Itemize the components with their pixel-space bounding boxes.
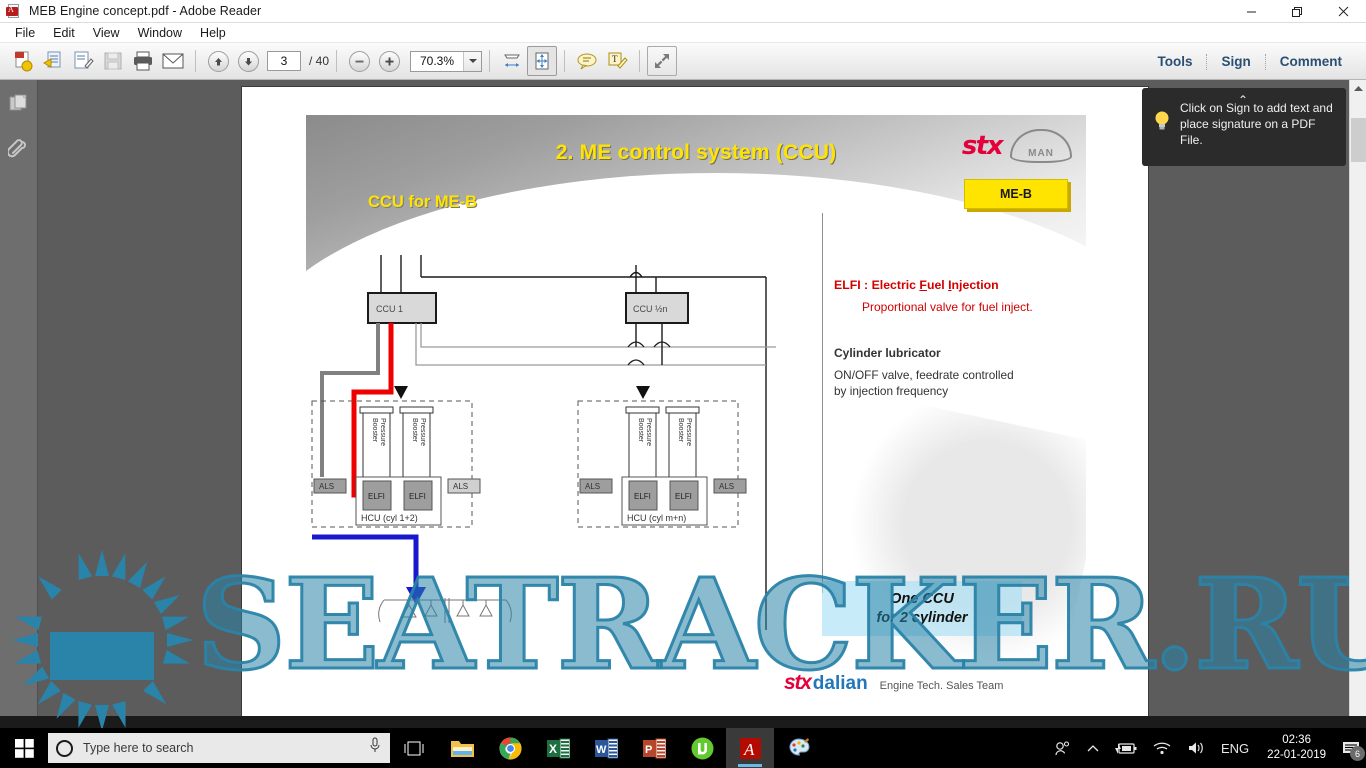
footer-team-label: Engine Tech. Sales Team bbox=[880, 680, 1004, 692]
lubricator-body-line1: ON/OFF valve, feedrate controlled bbox=[834, 367, 1014, 383]
zoom-level-value: 70.3% bbox=[411, 54, 463, 68]
tooltip-text: Click on Sign to add text and place sign… bbox=[1180, 100, 1336, 148]
clock-time: 02:36 bbox=[1267, 733, 1326, 748]
toolbar-separator bbox=[195, 50, 196, 72]
svg-text:Booster: Booster bbox=[677, 418, 684, 443]
system-tray: ENG 02:36 22-01-2019 6 bbox=[1046, 728, 1366, 768]
page-number-input[interactable]: 3 bbox=[267, 51, 301, 71]
lubricator-heading: Cylinder lubricator bbox=[834, 346, 941, 360]
svg-text:ALS: ALS bbox=[585, 482, 600, 491]
clock-date: 22-01-2019 bbox=[1267, 748, 1326, 763]
tools-button[interactable]: Tools bbox=[1143, 54, 1206, 69]
window-titlebar: MEB Engine concept.pdf - Adobe Reader bbox=[0, 0, 1366, 23]
task-view-icon[interactable] bbox=[390, 728, 438, 768]
viewport-gutter bbox=[38, 80, 242, 716]
powerpoint-icon[interactable]: P bbox=[630, 728, 678, 768]
paint-icon[interactable] bbox=[774, 728, 822, 768]
svg-text:CCU 1: CCU 1 bbox=[376, 304, 403, 314]
notification-icon[interactable]: 6 bbox=[1336, 728, 1366, 768]
svg-text:ELFI: ELFI bbox=[409, 492, 426, 501]
people-icon[interactable] bbox=[1046, 741, 1079, 756]
svg-text:CCU ½n: CCU ½n bbox=[633, 304, 668, 314]
volume-icon[interactable] bbox=[1179, 741, 1213, 755]
cortana-circle-icon bbox=[56, 740, 73, 757]
microphone-icon[interactable] bbox=[368, 737, 382, 759]
callout-line-1: One CCU bbox=[890, 590, 954, 609]
elfi-heading-mid: uel bbox=[927, 278, 948, 292]
callout-line-2: for 2 cylinder bbox=[876, 609, 967, 628]
taskbar-active-indicator bbox=[738, 764, 762, 767]
svg-text:T: T bbox=[612, 54, 618, 64]
sign-stamp-icon[interactable]: T bbox=[602, 46, 632, 76]
zoom-in-button[interactable] bbox=[374, 46, 404, 76]
vertical-scrollbar[interactable] bbox=[1349, 80, 1366, 716]
elfi-heading-f: F bbox=[919, 278, 927, 292]
svg-text:A: A bbox=[743, 740, 755, 759]
toolbar-right-links: Tools Sign Comment bbox=[1143, 43, 1356, 80]
google-chrome-icon[interactable] bbox=[486, 728, 534, 768]
svg-text:Pressure: Pressure bbox=[645, 418, 652, 446]
slide-content: 2. ME control system (CCU) CCU for ME-B … bbox=[306, 115, 1086, 695]
utorrent-icon[interactable] bbox=[678, 728, 726, 768]
maximize-button[interactable] bbox=[1274, 0, 1320, 23]
save-icon bbox=[98, 46, 128, 76]
edit-pdf-icon[interactable] bbox=[68, 46, 98, 76]
close-button[interactable] bbox=[1320, 0, 1366, 23]
sign-tooltip[interactable]: ⌃ Click on Sign to add text and place si… bbox=[1142, 88, 1346, 166]
svg-text:ALS: ALS bbox=[453, 482, 468, 491]
chevron-down-icon[interactable] bbox=[463, 52, 481, 71]
clock[interactable]: 02:36 22-01-2019 bbox=[1257, 733, 1336, 763]
file-explorer-icon[interactable] bbox=[438, 728, 486, 768]
svg-text:Booster: Booster bbox=[371, 418, 378, 443]
minimize-button[interactable] bbox=[1228, 0, 1274, 23]
next-page-button[interactable] bbox=[233, 46, 263, 76]
lubricator-body: ON/OFF valve, feedrate controlled by inj… bbox=[834, 367, 1014, 399]
page-total-label: / 40 bbox=[309, 54, 329, 68]
slide-background-art bbox=[802, 391, 1086, 695]
word-icon[interactable]: W bbox=[582, 728, 630, 768]
menu-edit[interactable]: Edit bbox=[44, 25, 84, 41]
window-title: MEB Engine concept.pdf - Adobe Reader bbox=[29, 4, 261, 18]
footer-dalian-logo: dalian bbox=[813, 673, 868, 695]
show-hidden-icons-chevron-icon[interactable] bbox=[1079, 744, 1107, 753]
wifi-icon[interactable] bbox=[1145, 741, 1179, 755]
svg-text:Pressure: Pressure bbox=[685, 418, 692, 446]
print-icon[interactable] bbox=[128, 46, 158, 76]
page-thumbnails-icon[interactable] bbox=[7, 92, 31, 116]
svg-text:HCU (cyl m+n): HCU (cyl m+n) bbox=[627, 513, 686, 523]
svg-text:ELFI: ELFI bbox=[368, 492, 385, 501]
adobe-reader-icon bbox=[6, 3, 22, 19]
document-viewport[interactable]: 2. ME control system (CCU) CCU for ME-B … bbox=[38, 80, 1366, 716]
main-toolbar: 3 / 40 70.3% bbox=[0, 43, 1366, 80]
elfi-heading: ELFI : Electric Fuel Injection bbox=[834, 278, 999, 292]
create-pdf-icon[interactable] bbox=[8, 46, 38, 76]
menu-view[interactable]: View bbox=[84, 25, 129, 41]
email-icon[interactable] bbox=[158, 46, 188, 76]
scroll-up-button[interactable] bbox=[1350, 80, 1366, 97]
man-logo-text: MAN bbox=[1028, 148, 1054, 159]
fit-width-icon[interactable] bbox=[497, 46, 527, 76]
lubricator-body-line2: by injection frequency bbox=[834, 383, 1014, 399]
sign-button[interactable]: Sign bbox=[1207, 54, 1264, 69]
svg-text:X: X bbox=[549, 742, 557, 756]
export-pdf-icon[interactable] bbox=[38, 46, 68, 76]
windows-start-icon[interactable] bbox=[0, 728, 48, 768]
menu-window[interactable]: Window bbox=[129, 25, 191, 41]
svg-text:ALS: ALS bbox=[319, 482, 334, 491]
svg-text:Booster: Booster bbox=[637, 418, 644, 443]
attachments-paperclip-icon[interactable] bbox=[7, 136, 31, 160]
fullscreen-icon[interactable] bbox=[647, 46, 677, 76]
toolbar-separator-5 bbox=[639, 50, 640, 72]
stx-logo: stx bbox=[962, 131, 1002, 161]
zoom-level-combobox[interactable]: 70.3% bbox=[410, 51, 482, 72]
elfi-heading-pre: ELFI : Electric bbox=[834, 278, 919, 292]
toolbar-separator-2 bbox=[336, 50, 337, 72]
window-controls bbox=[1228, 0, 1366, 23]
slide-vertical-divider bbox=[822, 213, 823, 593]
navigation-rail bbox=[0, 80, 38, 716]
svg-text:P: P bbox=[645, 744, 652, 756]
me-b-badge: ME-B bbox=[964, 179, 1068, 209]
pdf-page: 2. ME control system (CCU) CCU for ME-B … bbox=[242, 87, 1148, 716]
svg-text:W: W bbox=[596, 744, 607, 756]
windows-taskbar: Type here to search bbox=[0, 728, 1366, 768]
menu-file[interactable]: File bbox=[6, 25, 44, 41]
scrollbar-thumb[interactable] bbox=[1351, 118, 1366, 162]
svg-text:ELFI: ELFI bbox=[675, 492, 692, 501]
menu-help[interactable]: Help bbox=[191, 25, 235, 41]
search-input[interactable]: Type here to search bbox=[48, 733, 390, 763]
lightbulb-icon bbox=[1153, 110, 1171, 132]
elfi-subtext: Proportional valve for fuel inject. bbox=[862, 300, 1033, 314]
slide-footer: stx dalian Engine Tech. Sales Team bbox=[784, 671, 1003, 695]
svg-text:Pressure: Pressure bbox=[379, 418, 386, 446]
toolbar-separator-3 bbox=[489, 50, 490, 72]
svg-text:ELFI: ELFI bbox=[634, 492, 651, 501]
comment-bubble-icon[interactable] bbox=[572, 46, 602, 76]
fit-page-icon[interactable] bbox=[527, 46, 557, 76]
elfi-heading-post: njection bbox=[952, 278, 999, 292]
excel-icon[interactable]: X bbox=[534, 728, 582, 768]
search-placeholder: Type here to search bbox=[83, 741, 368, 755]
svg-text:Booster: Booster bbox=[411, 418, 418, 443]
ccu-hcu-diagram: CCU 1 CCU ½n bbox=[306, 255, 816, 685]
comment-button[interactable]: Comment bbox=[1266, 54, 1356, 69]
desktop-root: MEB Engine concept.pdf - Adobe Reader Fi… bbox=[0, 0, 1366, 768]
zoom-out-button[interactable] bbox=[344, 46, 374, 76]
previous-page-button[interactable] bbox=[203, 46, 233, 76]
one-ccu-callout: One CCU for 2 cylinder bbox=[822, 581, 1022, 636]
slide-subtitle: CCU for ME-B bbox=[368, 193, 477, 212]
svg-text:Pressure: Pressure bbox=[419, 418, 426, 446]
tooltip-caret: ⌃ bbox=[1238, 92, 1248, 108]
language-indicator[interactable]: ENG bbox=[1213, 741, 1257, 756]
adobe-reader-icon[interactable]: A bbox=[726, 728, 774, 768]
notification-count-badge: 6 bbox=[1350, 746, 1365, 761]
menu-bar: File Edit View Window Help bbox=[0, 23, 1366, 43]
toolbar-separator-4 bbox=[564, 50, 565, 72]
svg-text:ALS: ALS bbox=[719, 482, 734, 491]
svg-text:HCU (cyl 1+2): HCU (cyl 1+2) bbox=[361, 513, 418, 523]
battery-charging-icon[interactable] bbox=[1107, 742, 1145, 755]
